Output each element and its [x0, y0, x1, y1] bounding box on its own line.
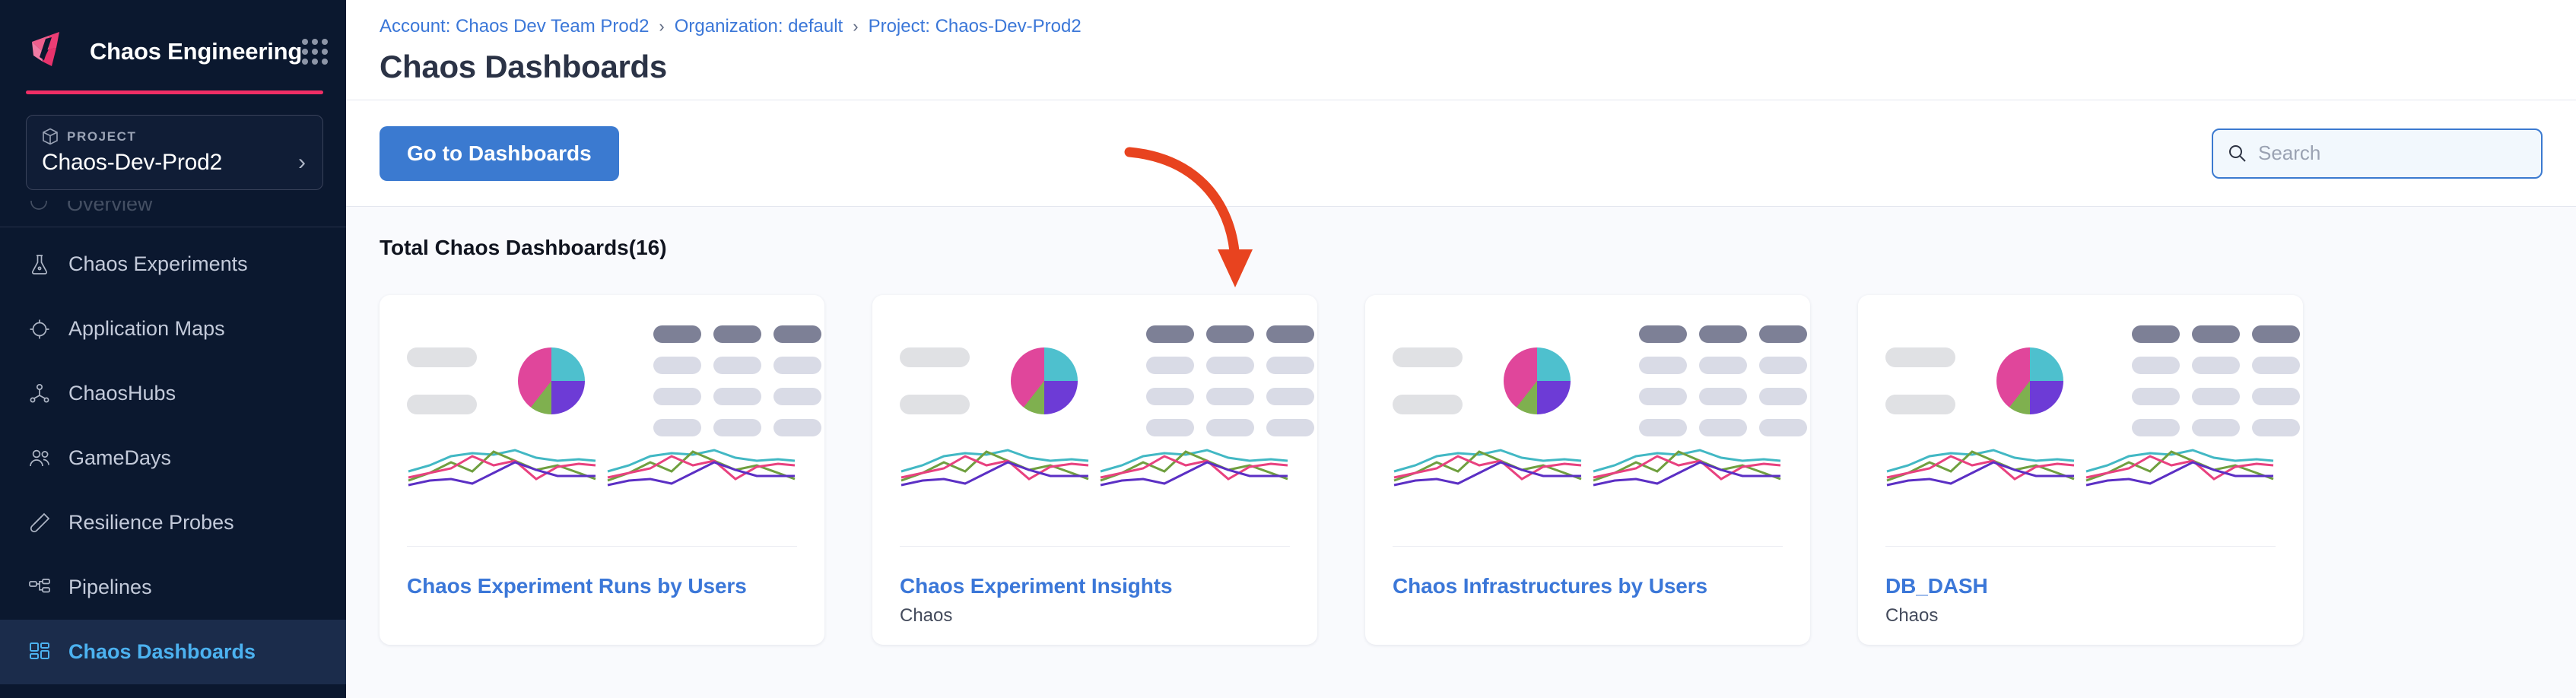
dashboard-thumbnail: [1365, 295, 1810, 546]
overview-icon: [27, 201, 50, 218]
sidebar-nav: Chaos Experiments Application Maps: [0, 227, 346, 684]
dashboard-thumbnail: [380, 295, 824, 546]
thumb-pill: [1885, 347, 1955, 367]
search-box[interactable]: [2212, 128, 2543, 179]
hub-icon: [27, 382, 52, 406]
project-name: Chaos-Dev-Prod2: [42, 150, 307, 176]
project-label: PROJECT: [67, 129, 137, 144]
dashboard-card[interactable]: Chaos Experiment Insights Chaos: [872, 295, 1317, 645]
pipeline-icon: [27, 576, 52, 600]
sidebar-item-label: Application Maps: [68, 317, 225, 341]
sidebar: Chaos Engineering PROJECT Chaos-Dev-Prod…: [0, 0, 346, 698]
sidebar-item-chaos-dashboards[interactable]: Chaos Dashboards: [0, 620, 346, 684]
thumb-table: [1146, 325, 1317, 436]
users-icon: [27, 446, 52, 471]
thumb-pills: [900, 347, 970, 414]
dashboard-card-title[interactable]: Chaos Infrastructures by Users: [1393, 574, 1783, 598]
sidebar-item-label: GameDays: [68, 446, 171, 470]
app-root: Chaos Engineering PROJECT Chaos-Dev-Prod…: [0, 0, 2576, 698]
thumb-pie-chart-icon: [1011, 347, 1078, 414]
thumb-pie-chart-icon: [1996, 347, 2063, 414]
main-area: Account: Chaos Dev Team Prod2 › Organiza…: [346, 0, 2576, 698]
grid-apps-icon[interactable]: [302, 39, 328, 65]
breadcrumb-separator-icon: ›: [659, 17, 664, 36]
thumb-pill: [900, 347, 970, 367]
breadcrumb-account[interactable]: Account: Chaos Dev Team Prod2: [380, 16, 649, 37]
brand-title: Chaos Engineering: [90, 38, 302, 65]
dashboard-thumbnail: [872, 295, 1317, 546]
thumb-sparkline-right: [1099, 435, 1289, 496]
sidebar-item-chaoshubs[interactable]: ChaosHubs: [0, 361, 346, 426]
thumb-sparkline-left: [900, 435, 1090, 496]
thumb-pill: [407, 347, 477, 367]
dashboard-card-subtitle: Chaos: [1885, 605, 2276, 627]
search-icon: [2227, 143, 2247, 163]
chevron-right-icon[interactable]: ›: [298, 151, 306, 174]
thumb-pie-chart-icon: [1504, 347, 1571, 414]
dashboard-card-title[interactable]: DB_DASH: [1885, 574, 2276, 598]
search-input[interactable]: [2258, 141, 2527, 165]
page-header: Account: Chaos Dev Team Prod2 › Organiza…: [346, 0, 2576, 100]
dashboards-content: Total Chaos Dashboards(16): [346, 207, 2576, 698]
thumb-pill: [1393, 347, 1463, 367]
thumb-sparklines: [1885, 435, 2276, 496]
thumb-sparklines: [900, 435, 1290, 496]
thumb-pills: [407, 347, 477, 414]
go-to-dashboards-button[interactable]: Go to Dashboards: [380, 126, 619, 181]
thumb-pills: [1393, 347, 1463, 414]
sidebar-item-overview-cutoff[interactable]: Overview: [0, 201, 346, 227]
sidebar-header: Chaos Engineering: [0, 0, 346, 84]
dashboard-card-title[interactable]: Chaos Experiment Insights: [900, 574, 1290, 598]
breadcrumb: Account: Chaos Dev Team Prod2 › Organiza…: [380, 14, 2576, 40]
test-tube-icon: [27, 511, 52, 535]
thumb-sparklines: [407, 435, 797, 496]
toolbar: Go to Dashboards: [346, 100, 2576, 207]
thumb-pills: [1885, 347, 1955, 414]
dashboard-icon: [27, 640, 52, 665]
sidebar-item-label: Pipelines: [68, 576, 152, 599]
thumb-table: [1639, 325, 1810, 436]
target-icon: [27, 317, 52, 341]
thumb-table: [653, 325, 824, 436]
dashboard-card[interactable]: Chaos Infrastructures by Users: [1365, 295, 1810, 645]
project-selector[interactable]: PROJECT Chaos-Dev-Prod2 ›: [26, 115, 323, 190]
harness-logo-icon: [26, 28, 73, 75]
sidebar-item-pipelines[interactable]: Pipelines: [0, 555, 346, 620]
sidebar-item-resilience-probes[interactable]: Resilience Probes: [0, 490, 346, 555]
thumb-pill: [407, 395, 477, 414]
dashboard-card-subtitle: Chaos: [900, 605, 1290, 627]
sidebar-item-label: ChaosHubs: [68, 382, 176, 405]
dashboard-card[interactable]: DB_DASH Chaos: [1858, 295, 2303, 645]
total-dashboards-label: Total Chaos Dashboards(16): [380, 207, 2543, 260]
cube-icon: [42, 128, 59, 145]
breadcrumb-project[interactable]: Project: Chaos-Dev-Prod2: [869, 16, 1082, 37]
sidebar-item-chaos-experiments[interactable]: Chaos Experiments: [0, 232, 346, 297]
page-title: Chaos Dashboards: [380, 49, 2576, 85]
breadcrumb-separator-icon: ›: [853, 17, 858, 36]
thumb-sparklines: [1393, 435, 1783, 496]
dashboard-card-title[interactable]: Chaos Experiment Runs by Users: [407, 574, 797, 598]
thumb-table: [2132, 325, 2303, 436]
thumb-pie-chart-icon: [518, 347, 585, 414]
thumb-sparkline-left: [407, 435, 597, 496]
flask-icon: [27, 252, 52, 277]
sidebar-item-label: Overview: [67, 201, 153, 216]
sidebar-item-application-maps[interactable]: Application Maps: [0, 297, 346, 361]
sidebar-item-label: Resilience Probes: [68, 511, 234, 535]
dashboard-thumbnail: [1858, 295, 2303, 546]
dashboard-card[interactable]: Chaos Experiment Runs by Users: [380, 295, 824, 645]
sidebar-item-label: Chaos Dashboards: [68, 640, 256, 664]
breadcrumb-organization[interactable]: Organization: default: [675, 16, 843, 37]
thumb-sparkline-right: [1592, 435, 1782, 496]
thumb-pill: [1885, 395, 1955, 414]
sidebar-item-label: Chaos Experiments: [68, 252, 248, 276]
brand-underline: [26, 90, 323, 94]
thumb-pill: [900, 395, 970, 414]
thumb-sparkline-left: [1393, 435, 1583, 496]
dashboard-card-grid: Chaos Experiment Runs by Users: [380, 295, 2543, 645]
sidebar-item-gamedays[interactable]: GameDays: [0, 426, 346, 490]
thumb-sparkline-left: [1885, 435, 2076, 496]
thumb-pill: [1393, 395, 1463, 414]
thumb-sparkline-right: [2085, 435, 2275, 496]
thumb-sparkline-right: [606, 435, 796, 496]
